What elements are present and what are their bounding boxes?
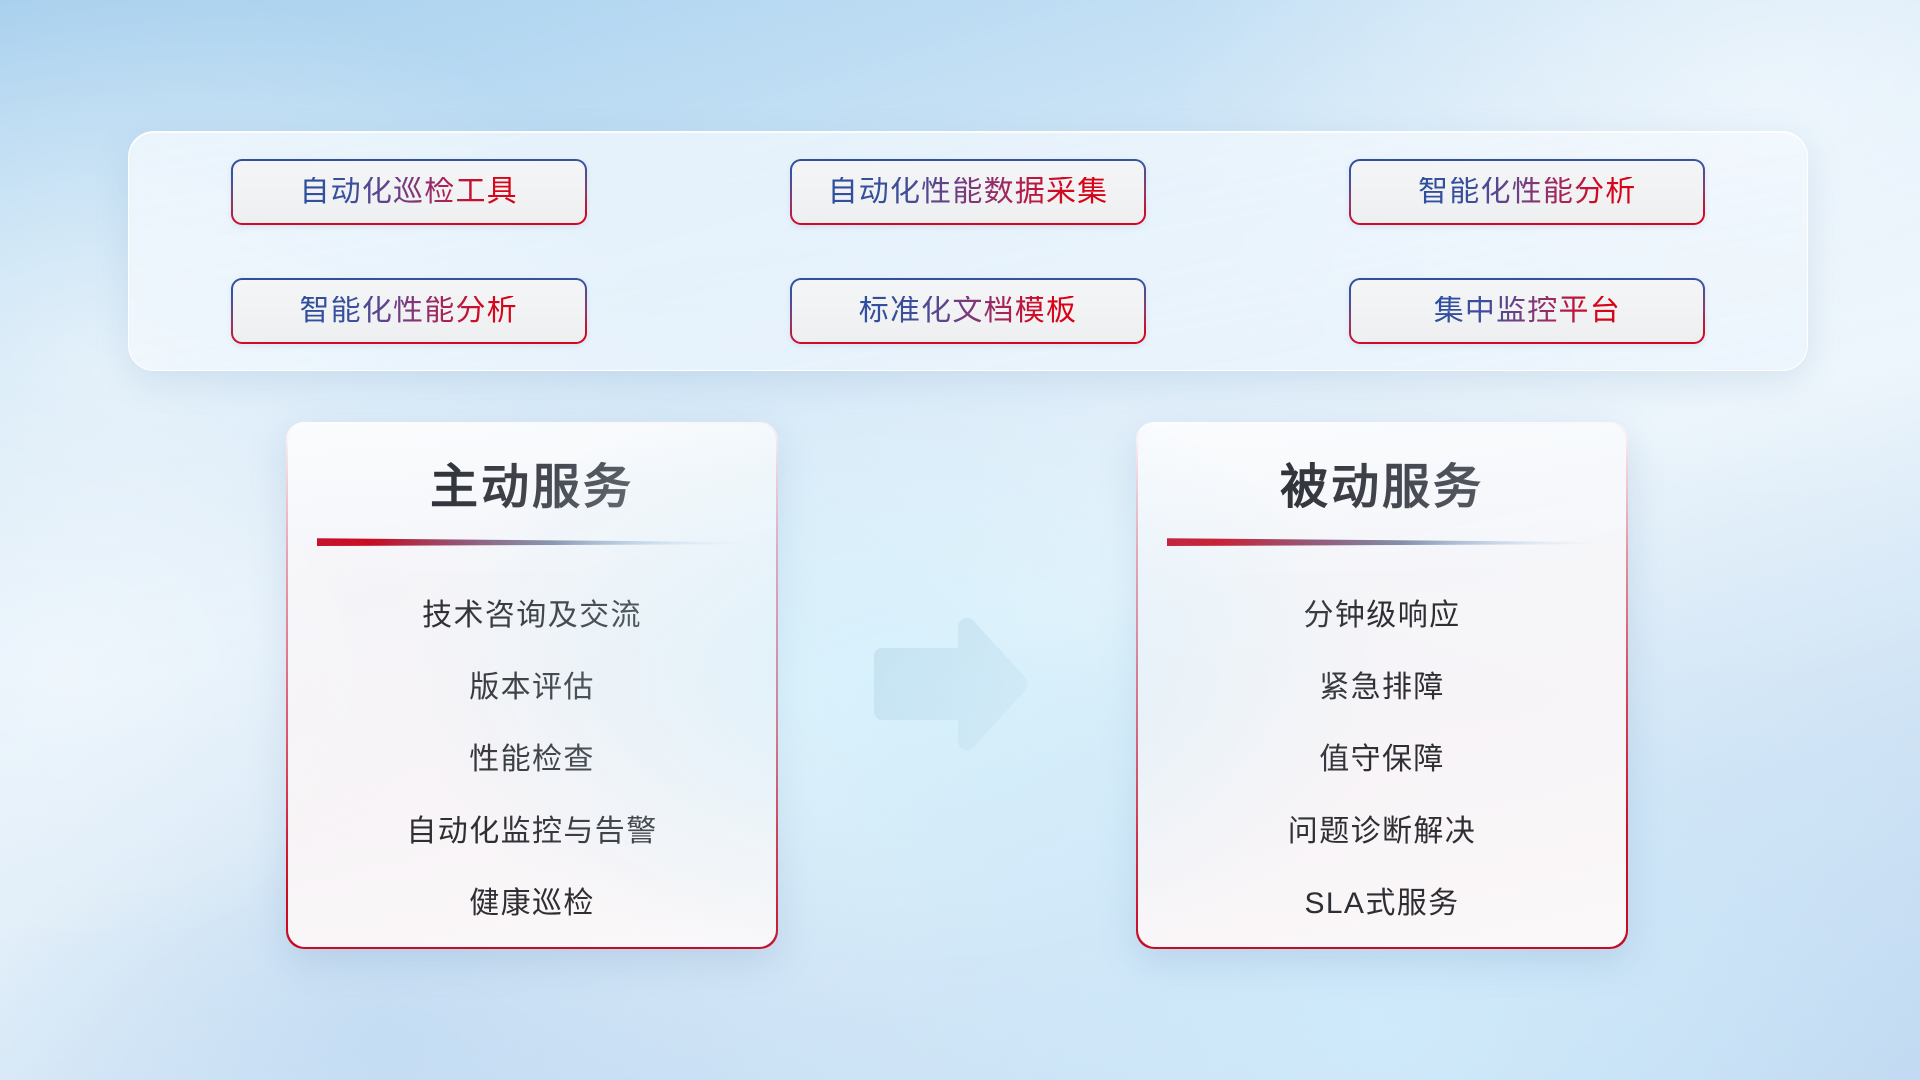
slide-canvas: 自动化巡检工具 自动化性能数据采集 智能化性能分析 智能化性能分析	[0, 0, 1920, 1080]
capability-chip[interactable]: 标准化文档模板	[790, 278, 1146, 344]
service-card-title: 被动服务	[1280, 460, 1484, 515]
capability-chip-label: 自动化巡检工具	[299, 177, 517, 207]
capability-chip[interactable]: 智能化性能分析	[231, 278, 587, 344]
service-card-surface: 被动服务	[1138, 424, 1627, 948]
list-item: 自动化监控与告警	[406, 796, 657, 868]
list-item: 性能检查	[469, 724, 595, 796]
capability-chip-label: 集中监控平台	[1434, 296, 1621, 326]
service-card-surface: 主动服务	[288, 424, 777, 948]
service-item-list: 技术咨询及交流 版本评估 性能检查 自动化监控与告警 健康巡检	[288, 580, 777, 940]
list-item: SLA式服务	[1304, 868, 1459, 940]
list-item: 健康巡检	[469, 868, 595, 940]
flow-arrow-right-icon	[866, 614, 1036, 754]
capability-panel: 自动化巡检工具 自动化性能数据采集 智能化性能分析 智能化性能分析	[128, 131, 1808, 371]
capability-chip-label: 标准化文档模板	[859, 296, 1077, 326]
capability-chip-surface: 自动化巡检工具	[233, 161, 585, 223]
service-card-proactive[interactable]: 主动服务	[286, 422, 778, 949]
capability-chip-label: 智能化性能分析	[299, 296, 517, 326]
list-item: 分钟级响应	[1304, 580, 1461, 652]
list-item: 技术咨询及交流	[422, 580, 642, 652]
capability-chip-surface: 智能化性能分析	[233, 280, 585, 342]
service-card-title: 主动服务	[430, 460, 634, 515]
list-item: 紧急排障	[1319, 652, 1445, 724]
capability-chip-grid: 自动化巡检工具 自动化性能数据采集 智能化性能分析 智能化性能分析	[129, 132, 1807, 370]
list-item: 值守保障	[1319, 724, 1445, 796]
service-card-reactive[interactable]: 被动服务	[1136, 422, 1628, 949]
capability-chip[interactable]: 集中监控平台	[1349, 278, 1705, 344]
capability-chip-surface: 标准化文档模板	[792, 280, 1144, 342]
capability-chip-label: 自动化性能数据采集	[828, 177, 1109, 207]
capability-chip-label: 智能化性能分析	[1418, 177, 1636, 207]
service-item-list: 分钟级响应 紧急排障 值守保障 问题诊断解决 SLA式服务	[1138, 580, 1627, 940]
capability-chip-surface: 智能化性能分析	[1351, 161, 1703, 223]
capability-chip[interactable]: 自动化性能数据采集	[790, 159, 1146, 225]
capability-chip-surface: 集中监控平台	[1351, 280, 1703, 342]
capability-chip[interactable]: 智能化性能分析	[1349, 159, 1705, 225]
title-divider	[317, 537, 747, 546]
list-item: 版本评估	[469, 652, 595, 724]
list-item: 问题诊断解决	[1288, 796, 1476, 868]
capability-chip-surface: 自动化性能数据采集	[792, 161, 1144, 223]
capability-chip[interactable]: 自动化巡检工具	[231, 159, 587, 225]
title-divider	[1167, 537, 1597, 546]
